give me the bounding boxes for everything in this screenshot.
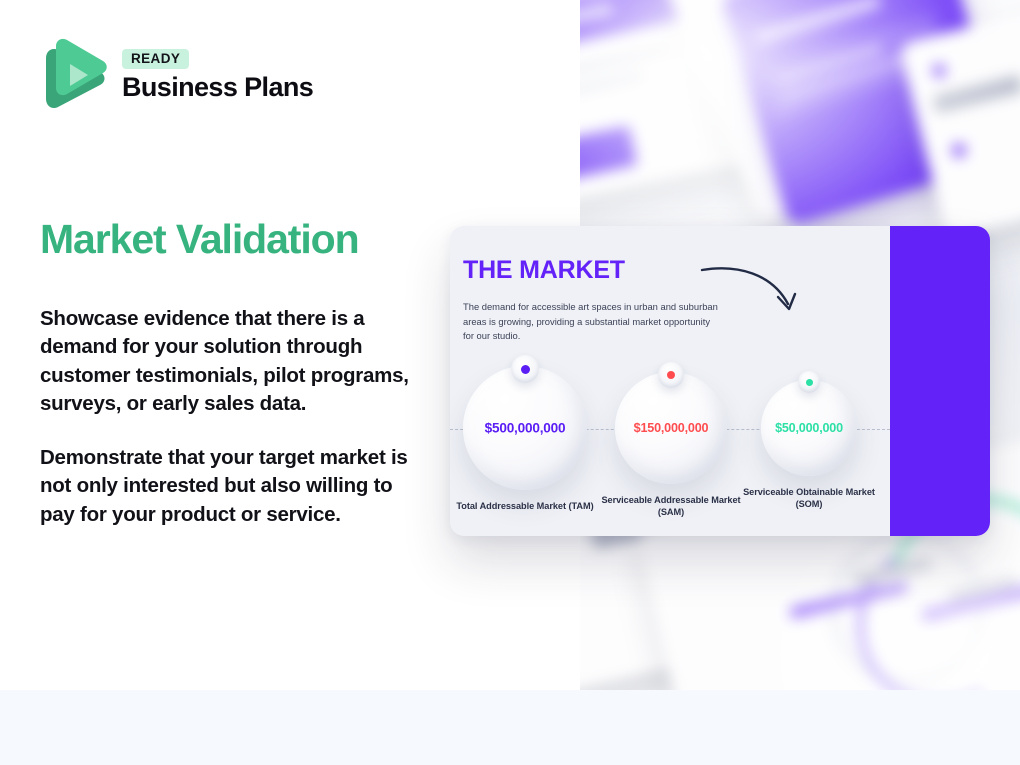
- brand-logo-text: READY Business Plans: [122, 49, 313, 102]
- metric-value: $50,000,000: [761, 421, 857, 435]
- status-dot-purple-icon: [521, 365, 530, 374]
- card-accent-block: [890, 226, 990, 536]
- metric-label: Serviceable Obtainable Market (SOM): [734, 486, 884, 511]
- ready-badge: READY: [122, 49, 189, 70]
- metric-sphere: $150,000,000: [615, 372, 727, 484]
- market-card-description: The demand for accessible art spaces in …: [463, 300, 718, 344]
- metric-value: $150,000,000: [615, 421, 727, 435]
- market-slide-card: THE MARKET The demand for accessible art…: [450, 226, 990, 536]
- metric-label: Total Addressable Market (TAM): [450, 500, 600, 512]
- metric-knob: [798, 371, 820, 393]
- status-dot-green-icon: [806, 379, 813, 386]
- metric-sphere: $50,000,000: [761, 380, 857, 476]
- market-card-title: THE MARKET: [463, 258, 625, 283]
- market-metrics-row: $500,000,000 Total Addressable Market (T…: [450, 354, 890, 529]
- brand-logo: READY Business Plans: [40, 38, 313, 112]
- metric-sphere: $500,000,000: [463, 366, 587, 490]
- metric-item-sam: $150,000,000 Serviceable Addressable Mar…: [596, 372, 746, 519]
- status-dot-red-icon: [667, 371, 675, 379]
- body-paragraph-2: Demonstrate that your target market is n…: [40, 444, 425, 529]
- body-paragraph-1: Showcase evidence that there is a demand…: [40, 305, 425, 418]
- curved-arrow-down-right-icon: [700, 264, 820, 324]
- metric-knob: [511, 355, 539, 383]
- metric-value: $500,000,000: [463, 421, 587, 436]
- metric-item-som: $50,000,000 Serviceable Obtainable Marke…: [734, 380, 884, 511]
- body-copy: Showcase evidence that there is a demand…: [40, 305, 425, 529]
- brand-name: Business Plans: [122, 73, 313, 101]
- bottom-band: [0, 690, 1020, 765]
- play-triangle-logo-icon: [40, 38, 108, 112]
- page-title: Market Validation: [40, 218, 359, 261]
- slide-page: READY Business Plans Market Validation S…: [0, 0, 1020, 765]
- metric-item-tam: $500,000,000 Total Addressable Market (T…: [450, 366, 600, 512]
- collage-top-group: [580, 0, 1020, 230]
- metric-label: Serviceable Addressable Market (SAM): [596, 494, 746, 519]
- metric-knob: [658, 362, 684, 388]
